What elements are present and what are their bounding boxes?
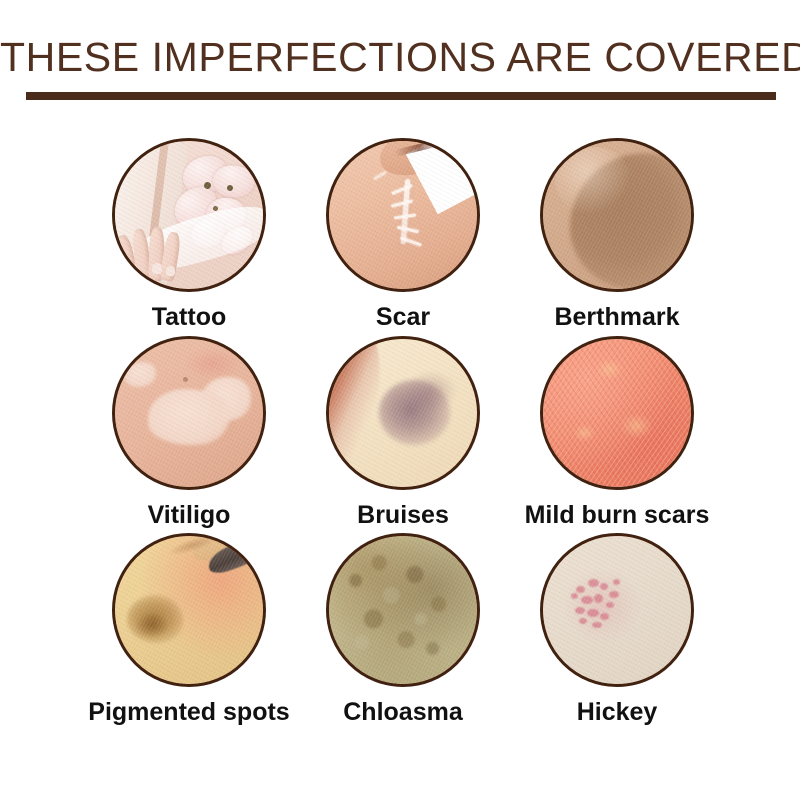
- grid-row: Vitiligo Bruises Mild burn scars: [0, 336, 800, 530]
- grid-row: Tattoo Scar: [0, 138, 800, 332]
- item-label: Vitiligo: [148, 502, 231, 530]
- scar-image: [326, 138, 480, 292]
- grid-item-mild-burn-scars[interactable]: Mild burn scars: [510, 336, 724, 530]
- berthmark-image: [540, 138, 694, 292]
- item-label: Berthmark: [554, 304, 679, 332]
- hickey-image: [540, 533, 694, 687]
- item-label: Scar: [376, 304, 430, 332]
- tattoo-image: [112, 138, 266, 292]
- page-title: THESE IMPERFECTIONS ARE COVERED: [0, 37, 800, 78]
- grid-item-scar[interactable]: Scar: [296, 138, 510, 332]
- grid-item-tattoo[interactable]: Tattoo: [82, 138, 296, 332]
- grid-item-bruises[interactable]: Bruises: [296, 336, 510, 530]
- bruises-image: [326, 336, 480, 490]
- imperfections-grid: Tattoo Scar: [0, 138, 800, 731]
- item-label: Chloasma: [343, 699, 462, 727]
- item-label: Pigmented spots: [88, 699, 289, 727]
- grid-row: Pigmented spots Chloasma: [0, 533, 800, 727]
- grid-item-chloasma[interactable]: Chloasma: [296, 533, 510, 727]
- item-label: Mild burn scars: [525, 502, 710, 530]
- item-label: Tattoo: [152, 304, 227, 332]
- vitiligo-image: [112, 336, 266, 490]
- mild-burn-scars-image: [540, 336, 694, 490]
- item-label: Hickey: [577, 699, 658, 727]
- grid-item-hickey[interactable]: Hickey: [510, 533, 724, 727]
- grid-item-pigmented-spots[interactable]: Pigmented spots: [82, 533, 296, 727]
- chloasma-image: [326, 533, 480, 687]
- item-label: Bruises: [357, 502, 449, 530]
- grid-item-berthmark[interactable]: Berthmark: [510, 138, 724, 332]
- pigmented-spots-image: [112, 533, 266, 687]
- grid-item-vitiligo[interactable]: Vitiligo: [82, 336, 296, 530]
- title-divider: [26, 92, 776, 100]
